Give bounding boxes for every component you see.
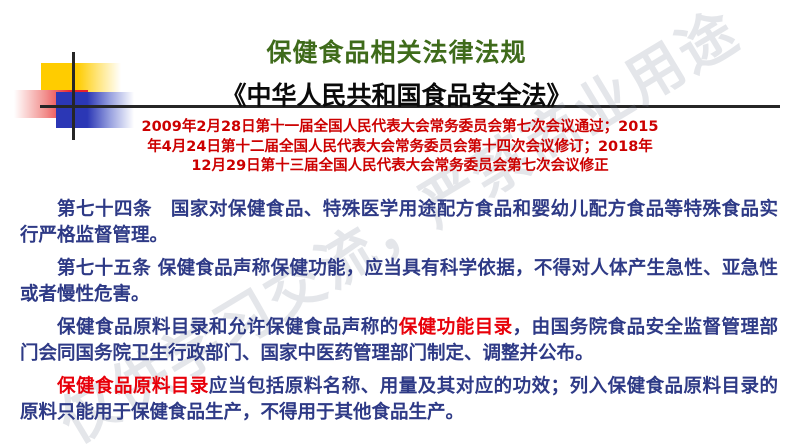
- highlight-health-function-catalog: 保健功能目录: [399, 317, 513, 338]
- enactment-history: 2009年2月28日第十一届全国人民代表大会常务委员会第七次会议通过；2015 …: [95, 118, 705, 177]
- paragraph-segment: 第七十四条 国家对保健食品、特殊医学用途配方食品和婴幼儿配方食品等特殊食品实行严…: [20, 199, 778, 246]
- paragraph-segment: 保健食品原料目录和允许保健食品声称的: [57, 317, 399, 338]
- article-paragraph-75-1: 第七十五条 保健食品声称保健功能，应当具有科学依据，不得对人体产生急性、亚急性或…: [20, 256, 778, 308]
- enactment-line: 12月29日第十三届全国人民代表大会常务委员会第七次会议修正: [95, 157, 705, 177]
- page-title: 保健食品相关法律法规: [0, 33, 793, 69]
- enactment-line: 2009年2月28日第十一届全国人民代表大会常务委员会第七次会议通过；2015: [95, 118, 705, 138]
- enactment-line: 年4月24日第十二届全国人民代表大会常务委员会第十四次会议修订；2018年: [95, 138, 705, 158]
- paragraph-segment: 第七十五条 保健食品声称保健功能，应当具有科学依据，不得对人体产生急性、亚急性或…: [20, 258, 778, 305]
- page-subtitle: 《中华人民共和国食品安全法》: [0, 76, 793, 112]
- article-paragraph-75-3: 保健食品原料目录应当包括原料名称、用量及其对应的功效；列入保健食品原料目录的原料…: [20, 374, 778, 426]
- slide-canvas: 仅供学习交流，严禁商业用途 保健食品相关法律法规 《中华人民共和国食品安全法》 …: [0, 0, 793, 446]
- article-body: 第七十四条 国家对保健食品、特殊医学用途配方食品和婴幼儿配方食品等特殊食品实行严…: [20, 197, 778, 426]
- article-paragraph-74: 第七十四条 国家对保健食品、特殊医学用途配方食品和婴幼儿配方食品等特殊食品实行严…: [20, 197, 778, 249]
- article-paragraph-75-2: 保健食品原料目录和允许保健食品声称的保健功能目录，由国务院食品安全监督管理部门会…: [20, 315, 778, 367]
- highlight-raw-material-catalog: 保健食品原料目录: [57, 376, 209, 397]
